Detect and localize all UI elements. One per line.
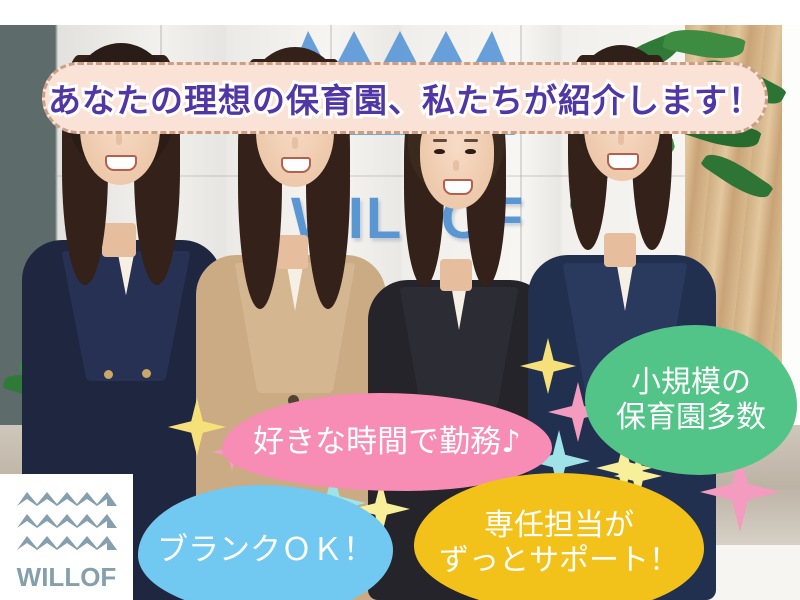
callout-yellow-line-2: ずっとサポート！ bbox=[439, 543, 679, 578]
callout-green-line-2: 保育園多数 bbox=[616, 400, 766, 435]
poster-canvas: WILLOF bbox=[0, 0, 800, 600]
willof-zigzag-icon bbox=[17, 490, 117, 506]
headline-banner: あなたの理想の保育園、私たちが紹介します！ bbox=[42, 62, 768, 134]
callout-pink-line-1: 好きな時間で勤務♪ bbox=[253, 424, 521, 461]
willof-zigzag-icon bbox=[17, 512, 117, 528]
willof-zigzag-icon bbox=[17, 534, 117, 550]
callout-yellow-line-1: 専任担当が bbox=[484, 508, 634, 543]
callout-green-line-1: 小規模の bbox=[631, 365, 751, 400]
headline-banner-text: あなたの理想の保育園、私たちが紹介します！ bbox=[48, 74, 762, 122]
willof-logo-box: WILLOF bbox=[0, 474, 133, 600]
willof-logo-wordmark: WILLOF bbox=[17, 562, 117, 593]
callout-blue-line-1: ブランクＯＫ！ bbox=[157, 532, 374, 569]
callout-green: 小規模の 保育園多数 bbox=[585, 325, 797, 475]
